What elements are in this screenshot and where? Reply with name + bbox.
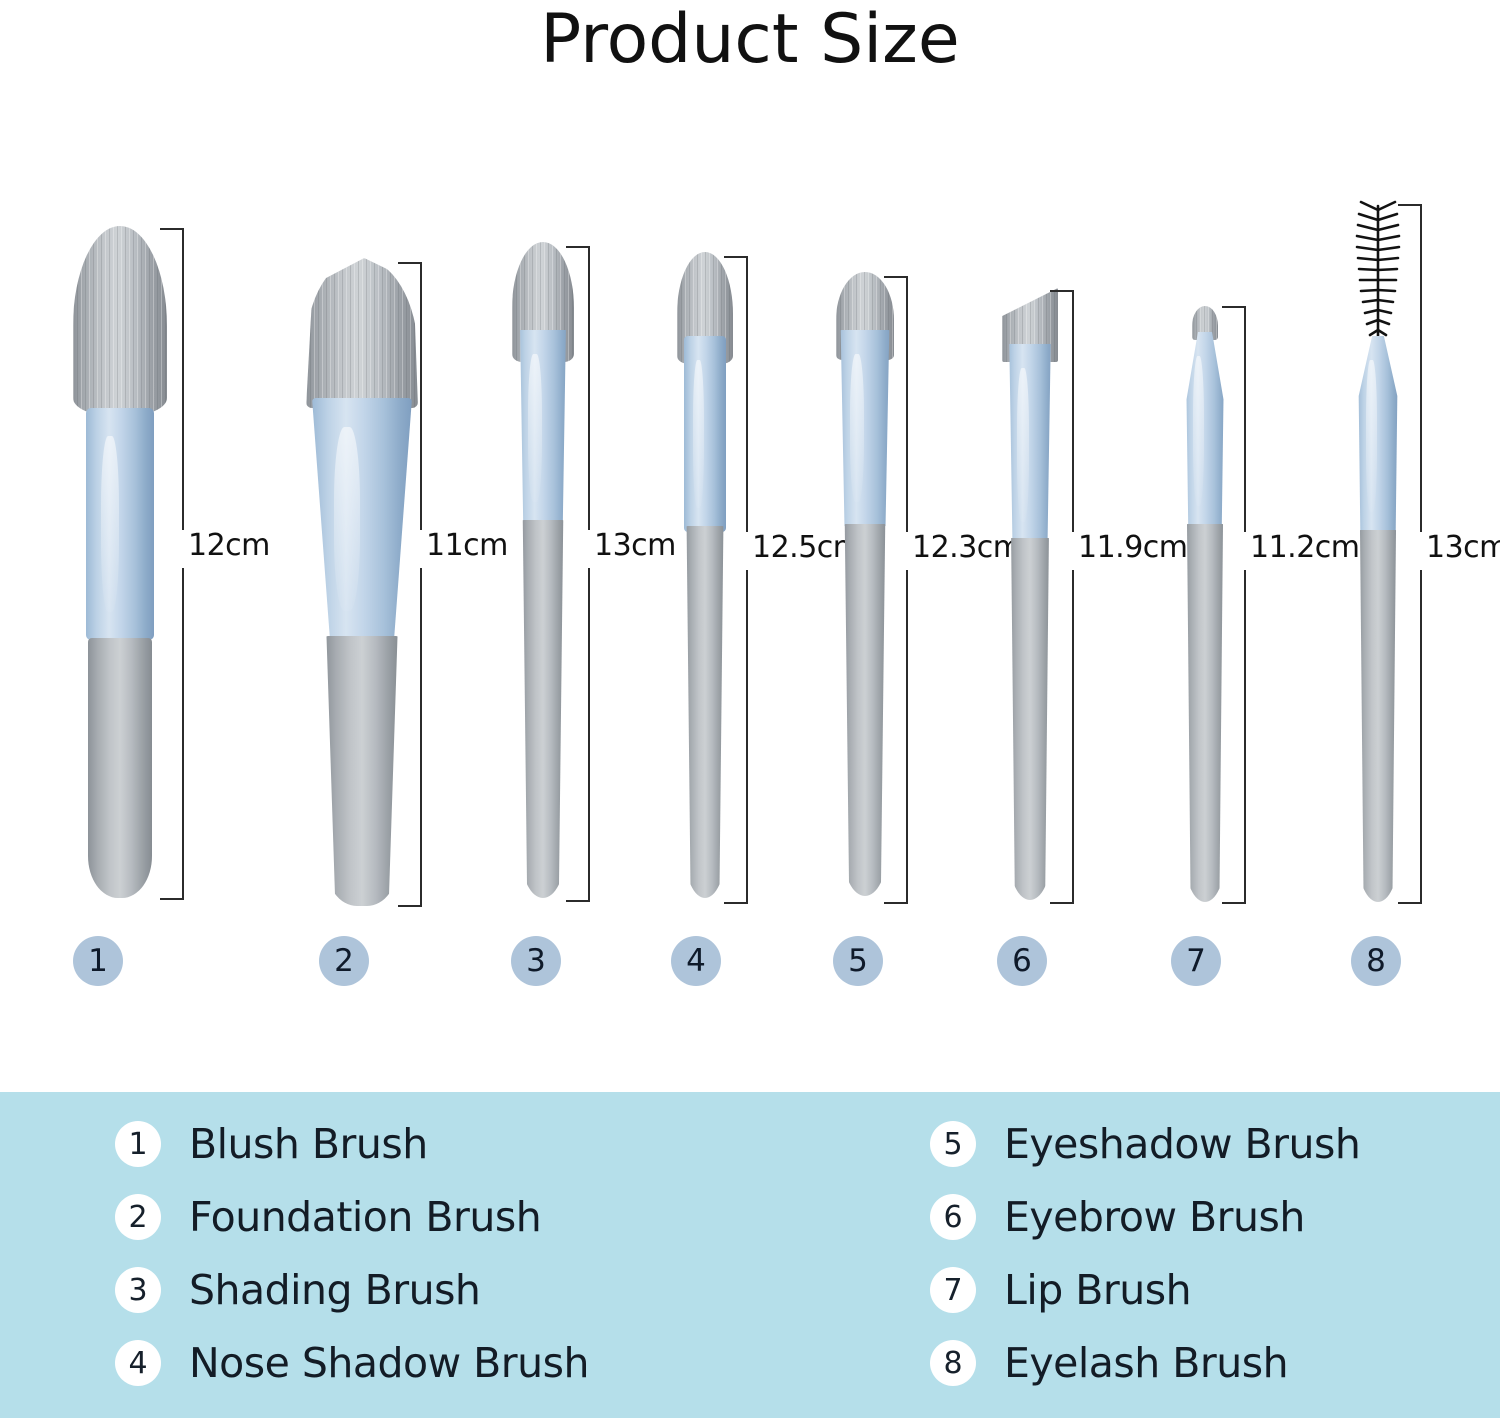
brush-2-handle: [325, 636, 399, 906]
legend-label-5: Eyeshadow Brush: [1004, 1120, 1360, 1168]
brush-3-handle: [521, 520, 565, 898]
bracket-line-bottom: [746, 570, 748, 904]
bracket-tick-top: [1398, 204, 1422, 206]
legend-label-1: Blush Brush: [189, 1120, 428, 1168]
brush-5-handle: [843, 524, 887, 896]
bracket-tick-bottom: [724, 902, 748, 904]
brush-2-ferrule: [312, 398, 412, 640]
brush-4-handle: [685, 526, 725, 898]
brush-8-ferrule: [1357, 336, 1399, 536]
list-item: 8 Eyelash Brush: [930, 1329, 1360, 1397]
bracket-line-bottom: [1072, 570, 1074, 904]
bracket-line-bottom: [588, 568, 590, 902]
brush-number-badge-5: 5: [833, 936, 883, 986]
bracket-tick-top: [566, 246, 590, 248]
brush-7-ferrule: [1183, 332, 1227, 530]
bracket-line-top: [746, 256, 748, 532]
brush-2-bristles: [306, 258, 418, 408]
list-item: 2 Foundation Brush: [115, 1183, 589, 1251]
bracket-line-top: [420, 262, 422, 530]
bracket-tick-top: [884, 276, 908, 278]
brush-slot-3: 3: [478, 0, 608, 1092]
bracket-line-top: [906, 276, 908, 532]
brush-slot-2: 2: [272, 0, 452, 1092]
legend-number-6: 6: [930, 1194, 976, 1240]
brush-6-handle: [1009, 538, 1051, 900]
brush-number-badge-4: 4: [671, 936, 721, 986]
legend-number-1: 1: [115, 1121, 161, 1167]
brush-slot-4: 4: [640, 0, 770, 1092]
legend-number-5: 5: [930, 1121, 976, 1167]
legend-label-7: Lip Brush: [1004, 1266, 1191, 1314]
bracket-line-top: [1072, 290, 1074, 532]
legend-label-4: Nose Shadow Brush: [189, 1339, 589, 1387]
legend-label-6: Eyebrow Brush: [1004, 1193, 1305, 1241]
bracket-tick-top: [398, 262, 422, 264]
list-item: 3 Shading Brush: [115, 1256, 589, 1324]
bracket-tick-bottom: [398, 905, 422, 907]
bracket-tick-bottom: [1398, 902, 1422, 904]
brush-1-bristles: [73, 226, 167, 416]
bracket-line-bottom: [1244, 570, 1246, 904]
legend-number-8: 8: [930, 1340, 976, 1386]
bracket-line-top: [1420, 204, 1422, 532]
brush-number-badge-2: 2: [319, 936, 369, 986]
bracket-tick-bottom: [1050, 902, 1074, 904]
legend-panel: 1 Blush Brush 2 Foundation Brush 3 Shadi…: [0, 1092, 1500, 1418]
bracket-line-bottom: [182, 568, 184, 900]
brush-slot-6: 6: [965, 0, 1095, 1092]
legend-label-2: Foundation Brush: [189, 1193, 541, 1241]
brush-slot-1: 1: [30, 0, 210, 1092]
brush-number-badge-7: 7: [1171, 936, 1221, 986]
legend-column-left: 1 Blush Brush 2 Foundation Brush 3 Shadi…: [115, 1110, 589, 1402]
brush-8-handle: [1358, 530, 1398, 902]
brush-1-handle: [88, 638, 152, 898]
list-item: 5 Eyeshadow Brush: [930, 1110, 1360, 1178]
list-item: 1 Blush Brush: [115, 1110, 589, 1178]
bracket-tick-bottom: [1222, 902, 1246, 904]
brush-number-badge-1: 1: [73, 936, 123, 986]
bracket-tick-top: [724, 256, 748, 258]
list-item: 4 Nose Shadow Brush: [115, 1329, 589, 1397]
legend-number-2: 2: [115, 1194, 161, 1240]
legend-label-8: Eyelash Brush: [1004, 1339, 1288, 1387]
legend-number-3: 3: [115, 1267, 161, 1313]
brush-number-badge-8: 8: [1351, 936, 1401, 986]
list-item: 7 Lip Brush: [930, 1256, 1360, 1324]
bracket-tick-top: [1050, 290, 1074, 292]
brush-6-ferrule: [1007, 344, 1053, 546]
bracket-tick-top: [1222, 306, 1246, 308]
brush-3-ferrule: [517, 330, 569, 526]
brush-number-badge-6: 6: [997, 936, 1047, 986]
brush-7-handle: [1185, 524, 1225, 902]
list-item: 6 Eyebrow Brush: [930, 1183, 1360, 1251]
brush-slot-5: 5: [800, 0, 930, 1092]
bracket-line-top: [1244, 306, 1246, 532]
brush-8-size-label: 13cm: [1426, 530, 1500, 565]
legend-number-7: 7: [930, 1267, 976, 1313]
bracket-line-top: [588, 246, 590, 530]
legend-label-3: Shading Brush: [189, 1266, 480, 1314]
brush-5-ferrule: [838, 330, 892, 526]
legend-number-4: 4: [115, 1340, 161, 1386]
spoolie-bristles-icon: [1347, 192, 1409, 352]
bristle-texture: [306, 258, 418, 408]
brush-slot-8: 8: [1318, 0, 1438, 1092]
bracket-line-bottom: [1420, 570, 1422, 904]
bristle-texture: [73, 226, 167, 416]
brush-number-badge-3: 3: [511, 936, 561, 986]
bracket-line-top: [182, 228, 184, 530]
bracket-line-bottom: [906, 570, 908, 904]
brush-1-ferrule: [86, 408, 154, 640]
brush-1-size-label: 12cm: [188, 528, 270, 563]
brush-4-ferrule: [684, 336, 726, 532]
bracket-line-bottom: [420, 568, 422, 907]
bracket-tick-bottom: [160, 898, 184, 900]
bracket-tick-bottom: [566, 900, 590, 902]
bracket-tick-top: [160, 228, 184, 230]
brush-display-area: 1 12cm 2 11cm 3: [0, 0, 1500, 1092]
legend-column-right: 5 Eyeshadow Brush 6 Eyebrow Brush 7 Lip …: [930, 1110, 1360, 1402]
bracket-tick-bottom: [884, 902, 908, 904]
